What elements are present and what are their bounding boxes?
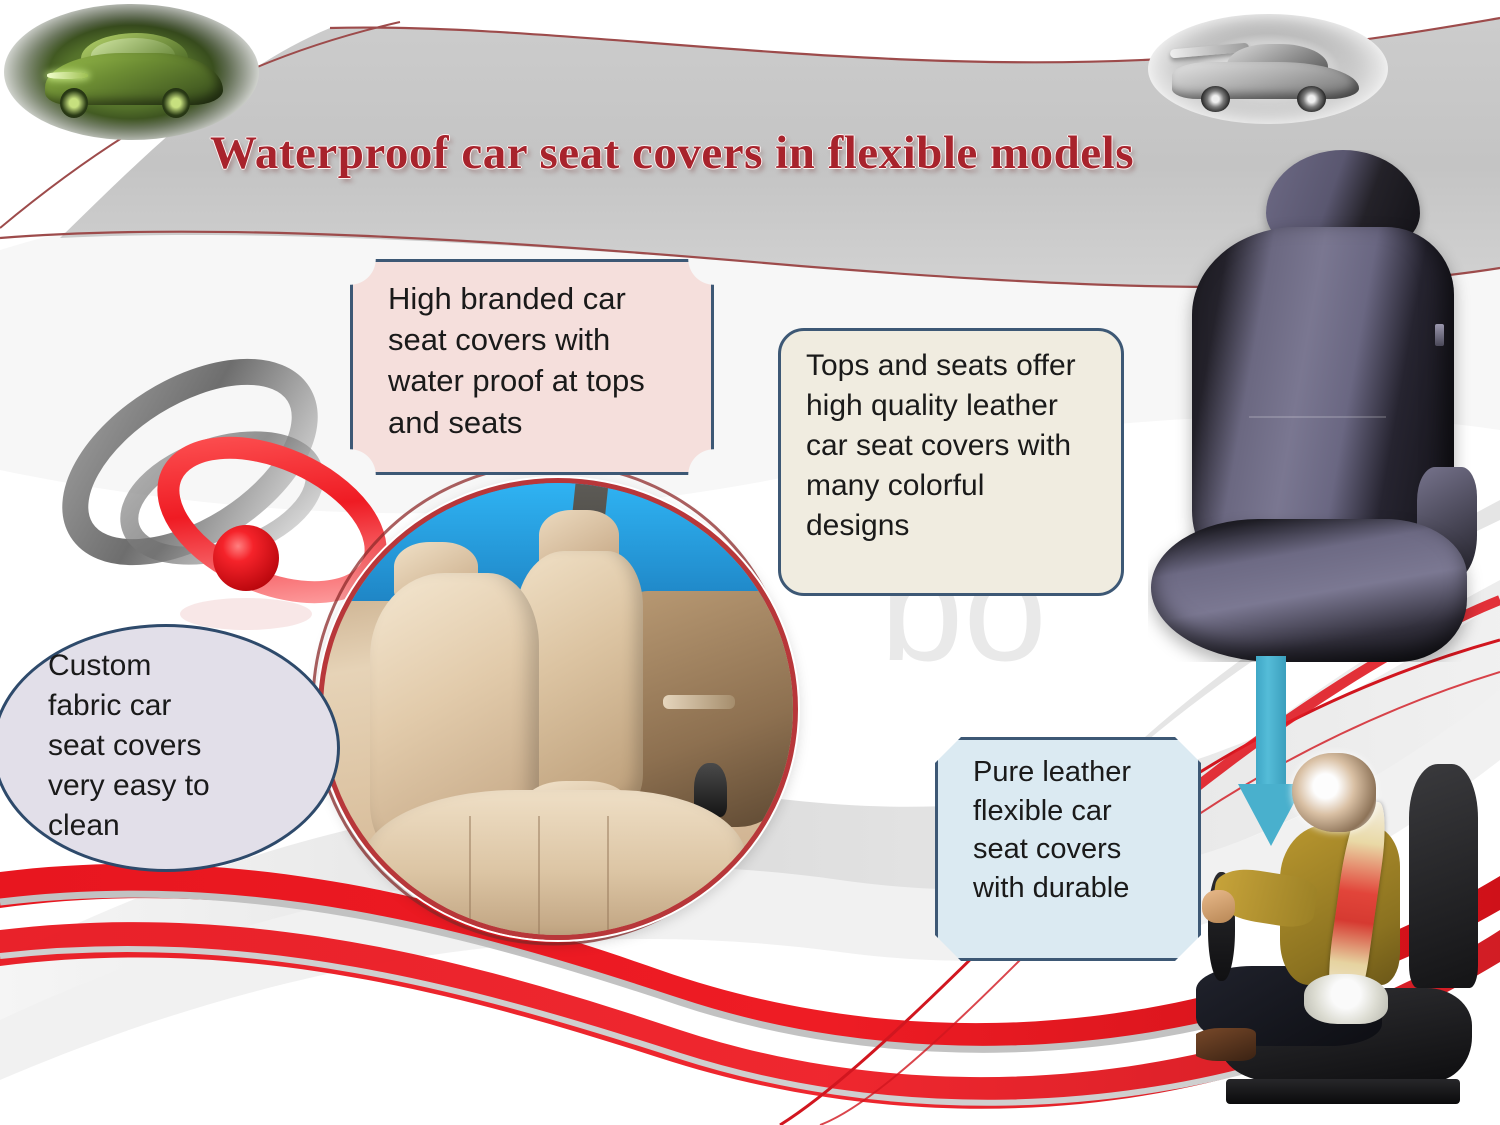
page-title: Waterproof car seat covers in flexible m…	[210, 126, 1300, 180]
callout-text-pure-leather: Pure leather flexible car seat covers wi…	[973, 753, 1185, 907]
callout-tops-and-seats[interactable]: Tops and seats offer high quality leathe…	[778, 328, 1124, 596]
car-interior-photo	[318, 478, 798, 940]
driver-spine-photo	[1196, 742, 1496, 1104]
green-car-photo	[4, 4, 259, 140]
car-seat-cover-photo	[1148, 150, 1484, 662]
silver-car-photo	[1148, 14, 1388, 124]
callout-high-branded[interactable]: High branded car seat covers with water …	[350, 259, 714, 475]
red-sphere	[213, 525, 279, 591]
callout-text-high-branded: High branded car seat covers with water …	[388, 278, 698, 443]
callout-text-tops-and-seats: Tops and seats offer high quality leathe…	[806, 346, 1116, 545]
infographic-canvas: bo	[0, 0, 1500, 1125]
callout-text-custom-fabric: Custom fabric car seat covers very easy …	[48, 646, 258, 845]
callout-pure-leather[interactable]: Pure leather flexible car seat covers wi…	[935, 737, 1201, 961]
callout-custom-fabric[interactable]: Custom fabric car seat covers very easy …	[0, 624, 340, 872]
